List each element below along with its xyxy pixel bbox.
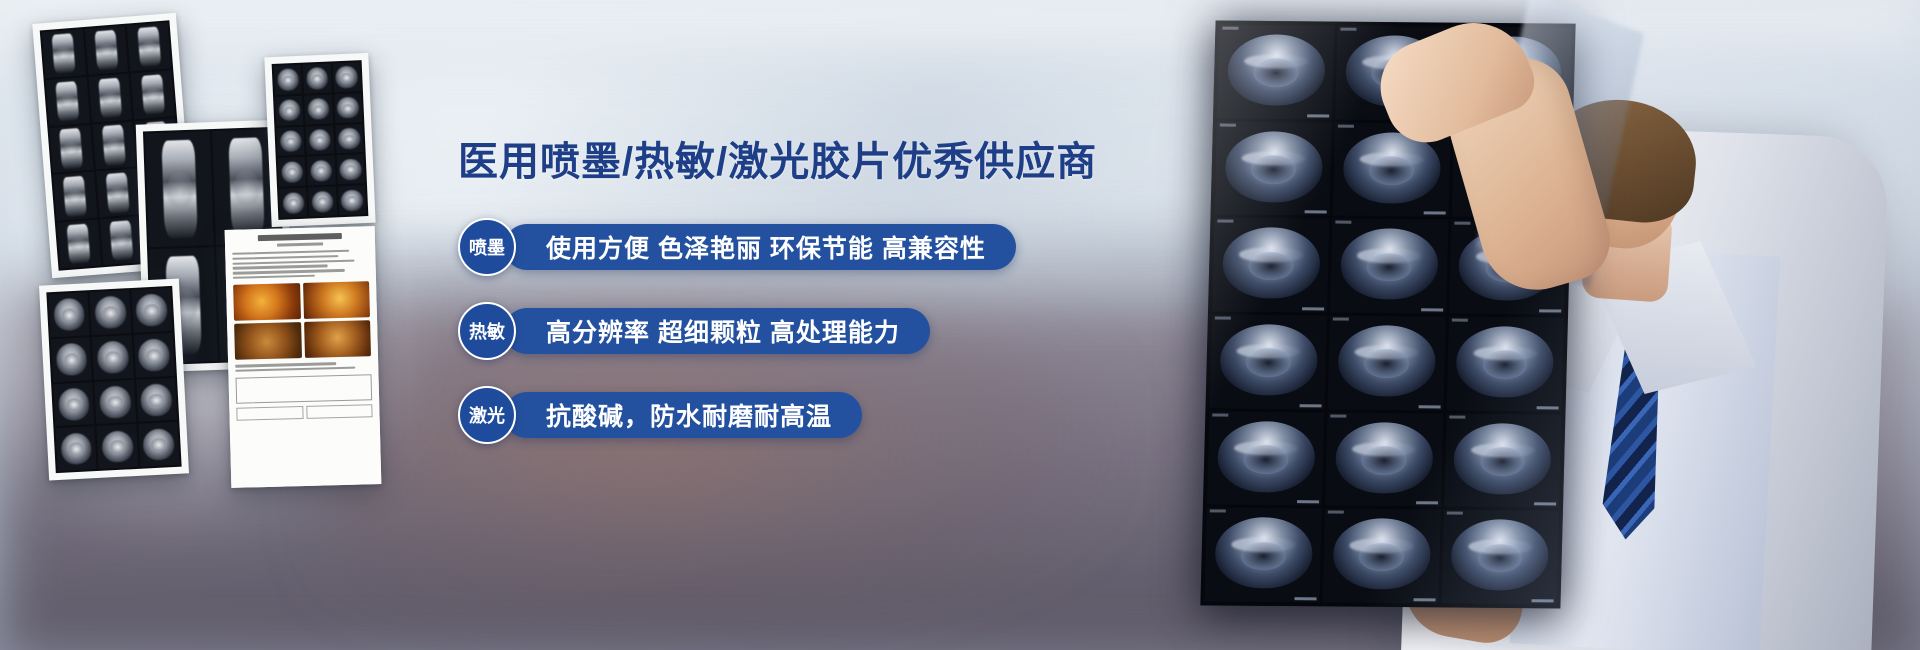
feature-text-laser: 抗酸碱，防水耐磨耐高温 [504, 392, 862, 438]
feature-row-inkjet: 喷墨 使用方便 色泽艳丽 环保节能 高兼容性 [458, 218, 1078, 276]
film-collage [0, 0, 420, 650]
medical-film-banner: 医用喷墨/热敏/激光胶片优秀供应商 喷墨 使用方便 色泽艳丽 环保节能 高兼容性… [0, 0, 1920, 650]
badge-laser: 激光 [458, 386, 516, 444]
mri-slice [1217, 25, 1335, 120]
mri-slice [1215, 121, 1333, 216]
mri-slice [1207, 411, 1325, 506]
report-comment-box [236, 375, 373, 405]
film-sheet-printed-report [225, 226, 382, 488]
mri-slice [1330, 219, 1448, 314]
doctor-photo [1060, 0, 1920, 650]
report-subtitle-bar [277, 242, 323, 246]
report-signature-row [236, 405, 372, 422]
mri-slice [1444, 413, 1562, 508]
report-text-lines-lower [235, 362, 371, 373]
mri-slice [1204, 508, 1322, 603]
badge-inkjet: 喷墨 [458, 218, 516, 276]
report-title-bar [258, 233, 342, 241]
banner-content: 医用喷墨/热敏/激光胶片优秀供应商 喷墨 使用方便 色泽艳丽 环保节能 高兼容性… [458, 140, 1078, 444]
mri-slice [1446, 317, 1564, 412]
mri-slice [1209, 314, 1327, 409]
mri-slice [1328, 315, 1446, 410]
feature-row-thermal: 热敏 高分辨率 超细颗粒 高处理能力 [458, 302, 1078, 360]
badge-thermal: 热敏 [458, 302, 516, 360]
film-sheet-brain-mri-top [264, 53, 375, 227]
mri-slice [1323, 509, 1441, 604]
mri-slice [1212, 218, 1330, 313]
page-title: 医用喷墨/热敏/激光胶片优秀供应商 [458, 140, 1078, 184]
report-page [225, 226, 382, 488]
film-sheet-brain-mri-bottom [39, 278, 189, 480]
feature-text-inkjet: 使用方便 色泽艳丽 环保节能 高兼容性 [504, 224, 1016, 270]
report-fundus-images [233, 282, 371, 361]
feature-row-laser: 激光 抗酸碱，防水耐磨耐高温 [458, 386, 1078, 444]
feature-text-thermal: 高分辨率 超细颗粒 高处理能力 [504, 308, 930, 354]
feature-list: 喷墨 使用方便 色泽艳丽 环保节能 高兼容性 热敏 高分辨率 超细颗粒 高处理能… [458, 218, 1078, 444]
mri-slice [1325, 412, 1443, 507]
mri-slice [1441, 510, 1559, 605]
report-text-lines [232, 249, 369, 279]
